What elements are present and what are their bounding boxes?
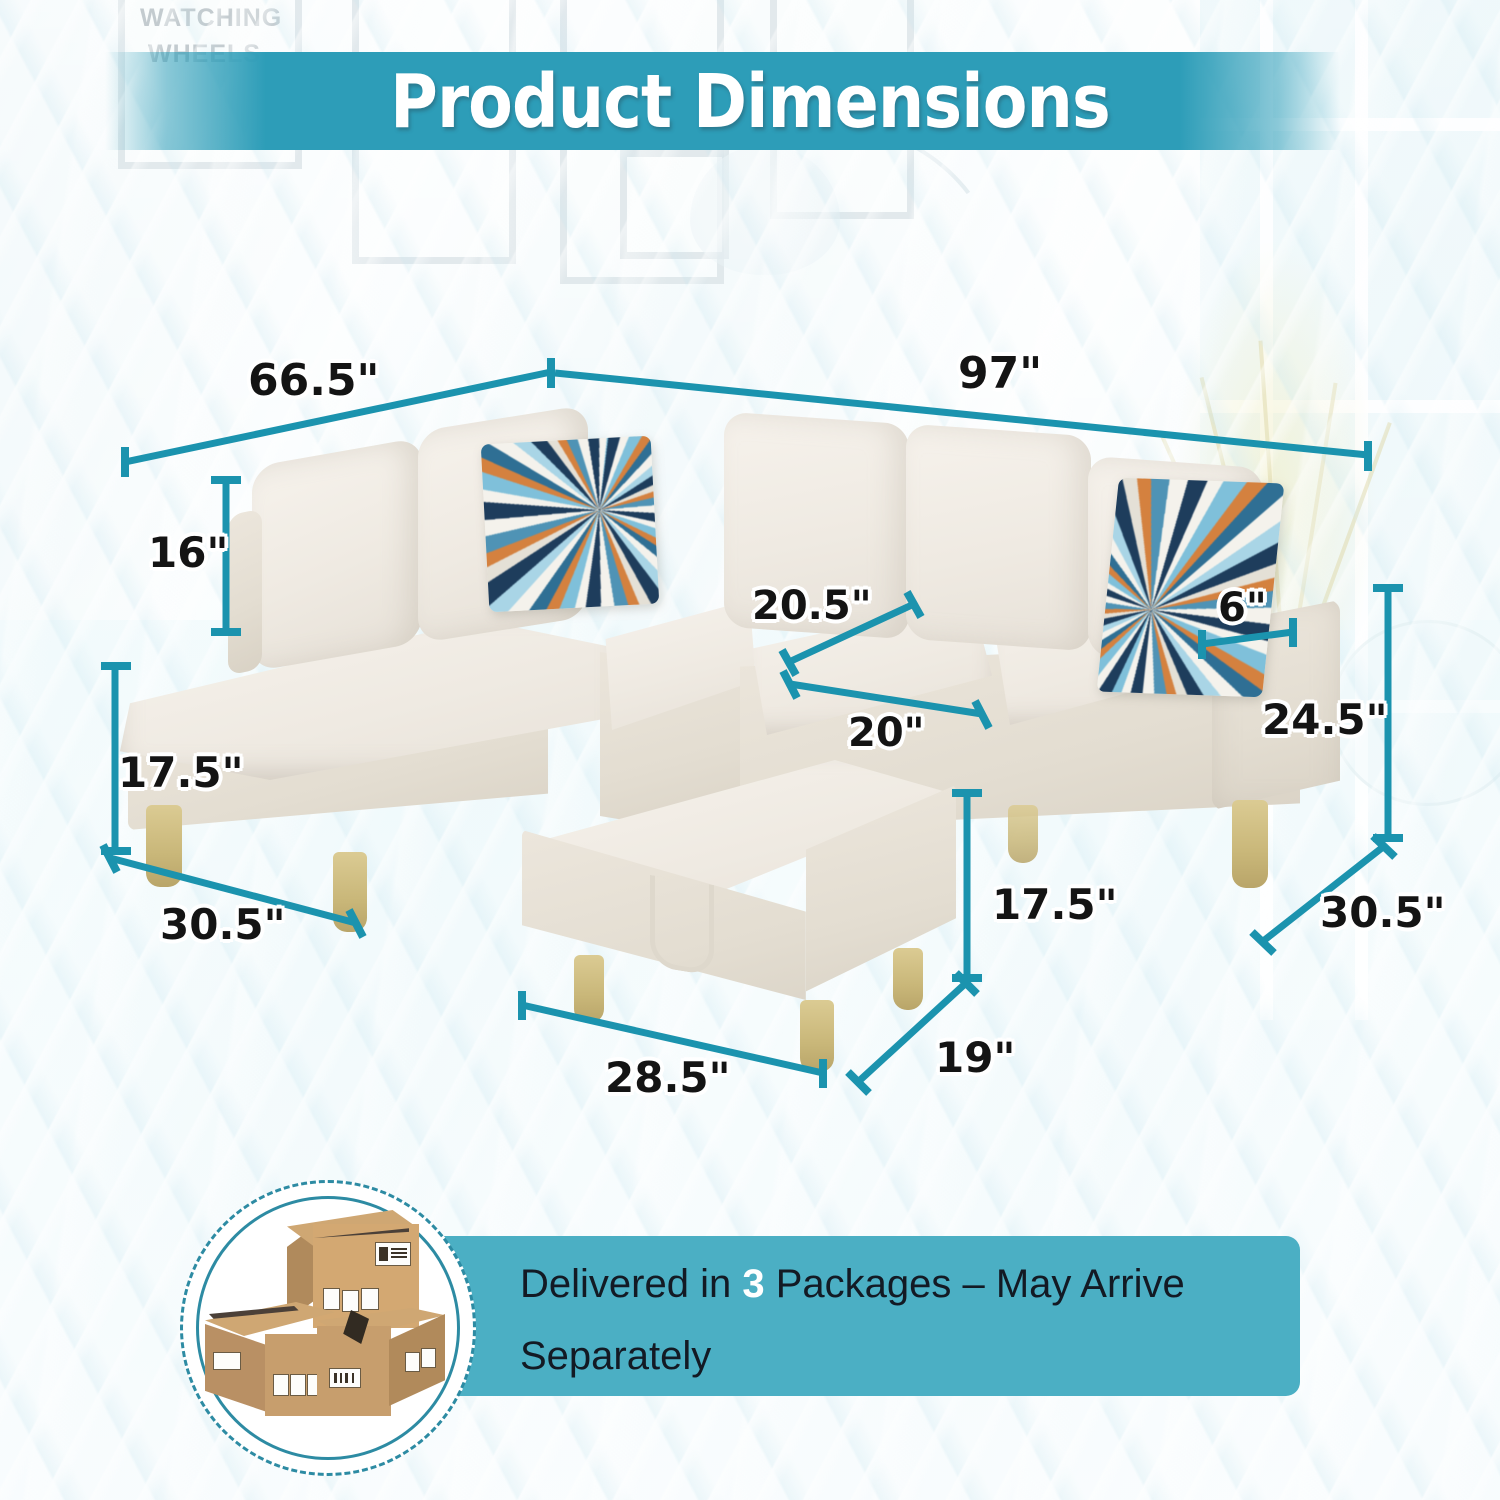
ottoman-pull-strap (650, 875, 714, 976)
dimension-label-30-5-sofa: 30.5" (1320, 888, 1446, 937)
sofa-leg-center (1008, 805, 1038, 863)
sofa-back-cushion-2 (906, 424, 1091, 652)
delivery-text: Delivered in 3 Packages – May Arrive Sep… (520, 1248, 1310, 1392)
package-count: 3 (742, 1262, 764, 1306)
ottoman-leg-front-center (800, 1000, 834, 1072)
chaise-leg-front-right (333, 852, 367, 932)
chaise-back-cushion-left (252, 437, 422, 672)
dimension-label-20-5: 20.5" (752, 583, 872, 629)
delivery-text-line2: Separately (520, 1334, 711, 1378)
cardboard-boxes-icon (205, 1212, 445, 1442)
ottoman-leg-front-left (574, 955, 604, 1023)
dimension-label-16: 16" (148, 528, 228, 577)
dimension-label-97: 97" (958, 348, 1042, 399)
dimension-label-19: 19" (935, 1033, 1015, 1082)
dimension-label-66-5: 66.5" (248, 355, 379, 406)
dimension-label-17-5-chaise: 17.5" (118, 748, 244, 797)
dimension-label-28-5: 28.5" (605, 1053, 731, 1102)
sofa-leg-right (1232, 800, 1268, 888)
dimension-label-20: 20" (848, 710, 925, 756)
accent-pillow-left (481, 436, 660, 613)
dimension-label-6: 6" (1218, 585, 1267, 631)
ottoman-leg-right (893, 948, 923, 1010)
delivery-text-post: Packages – May Arrive (765, 1262, 1185, 1306)
chaise-side-arm (228, 508, 262, 675)
dimension-label-30-5-chaise: 30.5" (160, 900, 286, 949)
dimension-label-24-5: 24.5" (1262, 695, 1388, 744)
product-dimensions-infographic: WATCHING WHEELS Product Dimensions (0, 0, 1500, 1500)
page-title: Product Dimensions (90, 58, 1410, 146)
chaise-leg-front-left (146, 805, 182, 887)
delivery-text-pre: Delivered in (520, 1262, 742, 1306)
dimension-label-17-5-ottoman: 17.5" (992, 880, 1118, 929)
